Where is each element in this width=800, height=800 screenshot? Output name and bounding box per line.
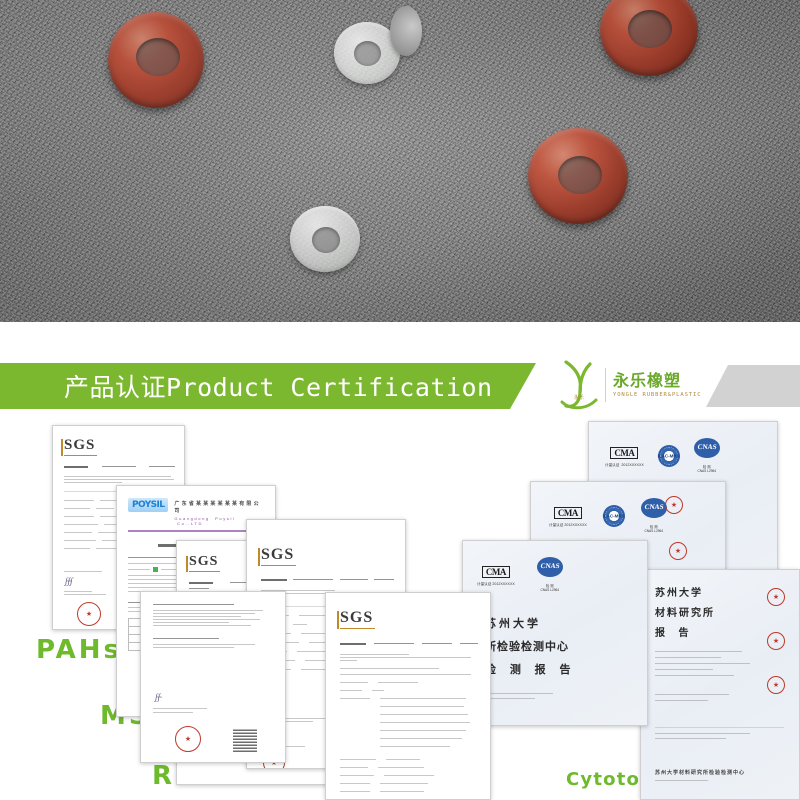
leaf-sprout-icon: 永乐 (556, 358, 602, 412)
photo-vignette (0, 0, 800, 322)
red-seal-stamp (767, 676, 785, 694)
cma-accreditation-logo: CMA 计量认证 2012XXXXXX (605, 443, 644, 468)
red-seal-stamp (175, 726, 201, 752)
red-seal-stamp (669, 542, 687, 560)
cma-accreditation-logo: CMA 计量认证 2012XXXXXX (549, 503, 587, 528)
section-banner: 产品认证Product Certification (0, 363, 536, 409)
sgs-logo: SGS (189, 554, 218, 570)
sgs-logo: SGS (340, 609, 373, 627)
institute-name-cn: 苏州大学 (485, 615, 576, 631)
center-name-cn: 所检验检测中心 (485, 638, 576, 654)
red-seal-stamp (767, 588, 785, 606)
cnas-logo: CNAS 检 测 CNAS L2964 (694, 438, 720, 473)
cnas-logo: CNAS 检 测 CNAS L2964 (537, 557, 563, 592)
cma-accreditation-logo: CMA 计量认证 2012XXXXXX (477, 562, 515, 587)
product-certification-page: 产品认证Product Certification 永乐 永乐橡塑 YONGLE… (0, 0, 800, 800)
signature: ʃ̴ʃ̴ (155, 692, 160, 702)
logo-text-block: 永乐橡塑 YONGLE RUBBER&PLASTIC (613, 372, 701, 398)
banner-grey-tab (706, 365, 800, 407)
logo-divider (605, 368, 606, 402)
section-title: 产品认证Product Certification (0, 368, 493, 404)
certificate-sgs-lower[interactable]: SGS (325, 592, 491, 800)
ilac-mra-logo: ILAC-MRA (658, 445, 680, 467)
section-title-en: Product Certification (166, 373, 493, 402)
sgs-logo: SGS (64, 437, 95, 454)
ilac-mra-logo: ILAC-MRA (603, 505, 625, 527)
sgs-logo: SGS (261, 546, 294, 564)
category-label-pahs: PAHs (36, 636, 122, 666)
certificate-suzhou-report[interactable]: 苏州大学 材料研究所 报 告 (640, 569, 800, 800)
certificate-fragment-left[interactable]: ʃ̴ʃ̴ (140, 591, 286, 763)
red-seal-stamp (665, 496, 683, 514)
category-label-text: PAHs (36, 635, 122, 665)
logo-name-cn: 永乐橡塑 (613, 372, 701, 390)
red-seal-stamp (77, 602, 101, 626)
qr-code (233, 728, 257, 752)
svg-text:永乐: 永乐 (574, 394, 584, 401)
product-photo (0, 0, 800, 322)
red-seal-stamp (767, 632, 785, 650)
cnas-logo: CNAS 检 测 CNAS L2964 (641, 498, 667, 533)
logo-name-en: YONGLE RUBBER&PLASTIC (613, 392, 701, 398)
certificate-collage: SGS ʃ̴ʃ̴ʃ (0, 409, 800, 800)
poysil-logo: POYSIL (128, 498, 168, 512)
signature: ʃ̴ʃ̴ʃ (65, 576, 73, 586)
report-title-cn: 检 测 报 告 (485, 661, 576, 677)
section-title-cn: 产品认证 (64, 373, 166, 402)
brand-logo: 永乐 永乐橡塑 YONGLE RUBBER&PLASTIC (556, 355, 706, 415)
